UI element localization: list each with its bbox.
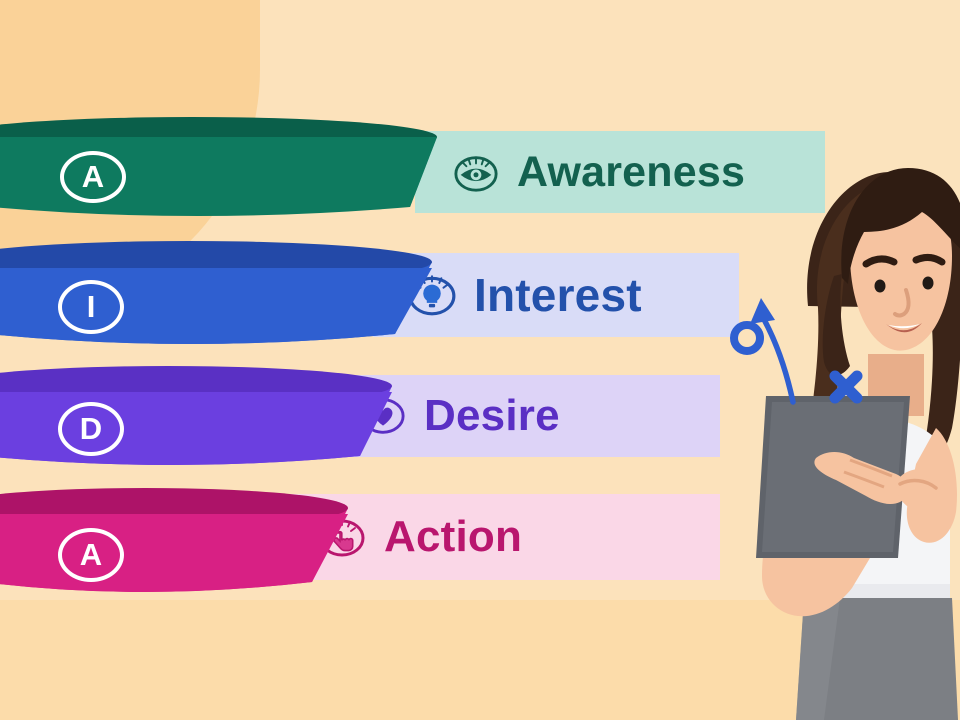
funnel-segment-interest[interactable]: I [0,238,460,356]
funnel-infographic: Awareness Interest [0,0,960,720]
stage-badge-desire: D [58,402,124,456]
stage-label-text: Interest [474,268,642,322]
stage-badge-letter: A [82,159,104,195]
stage-badge-letter: D [80,411,102,447]
funnel-graphic: A I D [0,110,460,610]
arrow-head [750,298,775,324]
funnel-segment-action[interactable]: A [0,480,460,605]
decorative-marks [725,270,900,415]
eye-right [923,277,934,290]
ring-mark-icon [734,325,760,351]
stage-badge-awareness: A [60,151,126,203]
stage-badge-action: A [58,528,124,582]
curved-arrow-up-icon [761,314,793,402]
illustration-woman-with-tablet [700,128,960,720]
cross-mark-icon [835,376,857,398]
funnel-segment-desire[interactable]: D [0,360,460,478]
funnel-segment-awareness[interactable]: A [0,115,460,230]
stage-badge-letter: A [80,537,102,573]
stage-badge-letter: I [87,289,96,325]
stage-badge-interest: I [58,280,124,334]
